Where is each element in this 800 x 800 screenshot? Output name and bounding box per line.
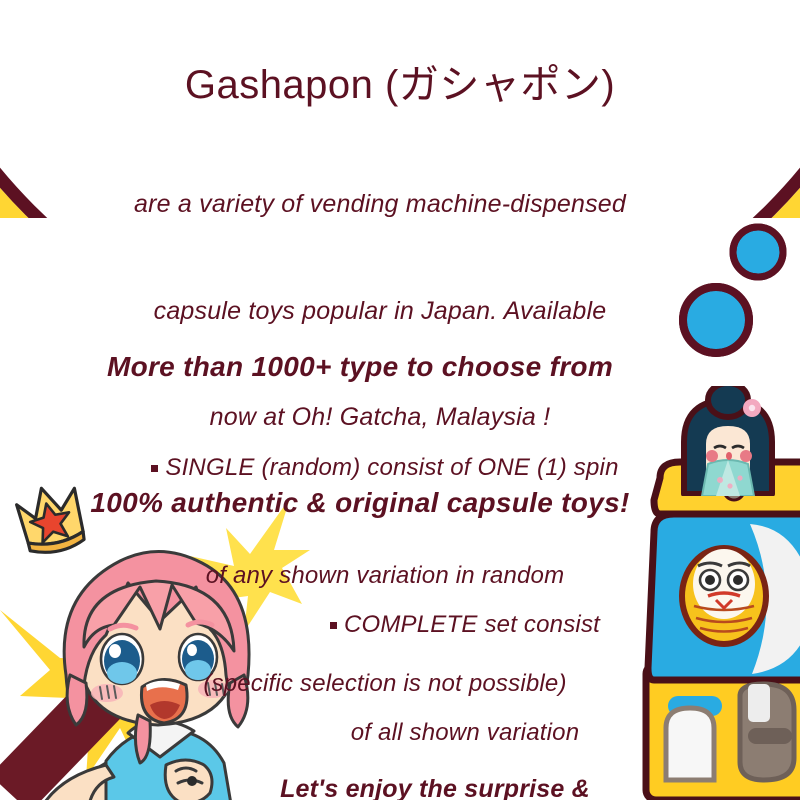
intro-line-1: are a variety of vending machine-dispens… bbox=[60, 187, 700, 223]
single-line-1: SINGLE (random) consist of ONE (1) spin bbox=[110, 450, 660, 486]
bullet-icon bbox=[330, 622, 337, 629]
single-line-1-text: SINGLE (random) consist of ONE (1) spin bbox=[165, 454, 618, 481]
tagline-line-1: Let's enjoy the surprise & bbox=[225, 770, 645, 800]
bullet-icon bbox=[151, 465, 158, 472]
complete-line-1: COMPLETE set consist bbox=[280, 607, 650, 643]
gashapon-promo-poster: Gashapon (ガシャポン) are a variety of vendin… bbox=[0, 0, 800, 800]
page-title: Gashapon (ガシャポン) bbox=[0, 60, 800, 111]
complete-line-1-text: COMPLETE set consist bbox=[344, 611, 600, 638]
closing-tagline: Let's enjoy the surprise & experience of… bbox=[225, 692, 645, 800]
poster-text-layer: Gashapon (ガシャポン) are a variety of vendin… bbox=[0, 0, 800, 800]
